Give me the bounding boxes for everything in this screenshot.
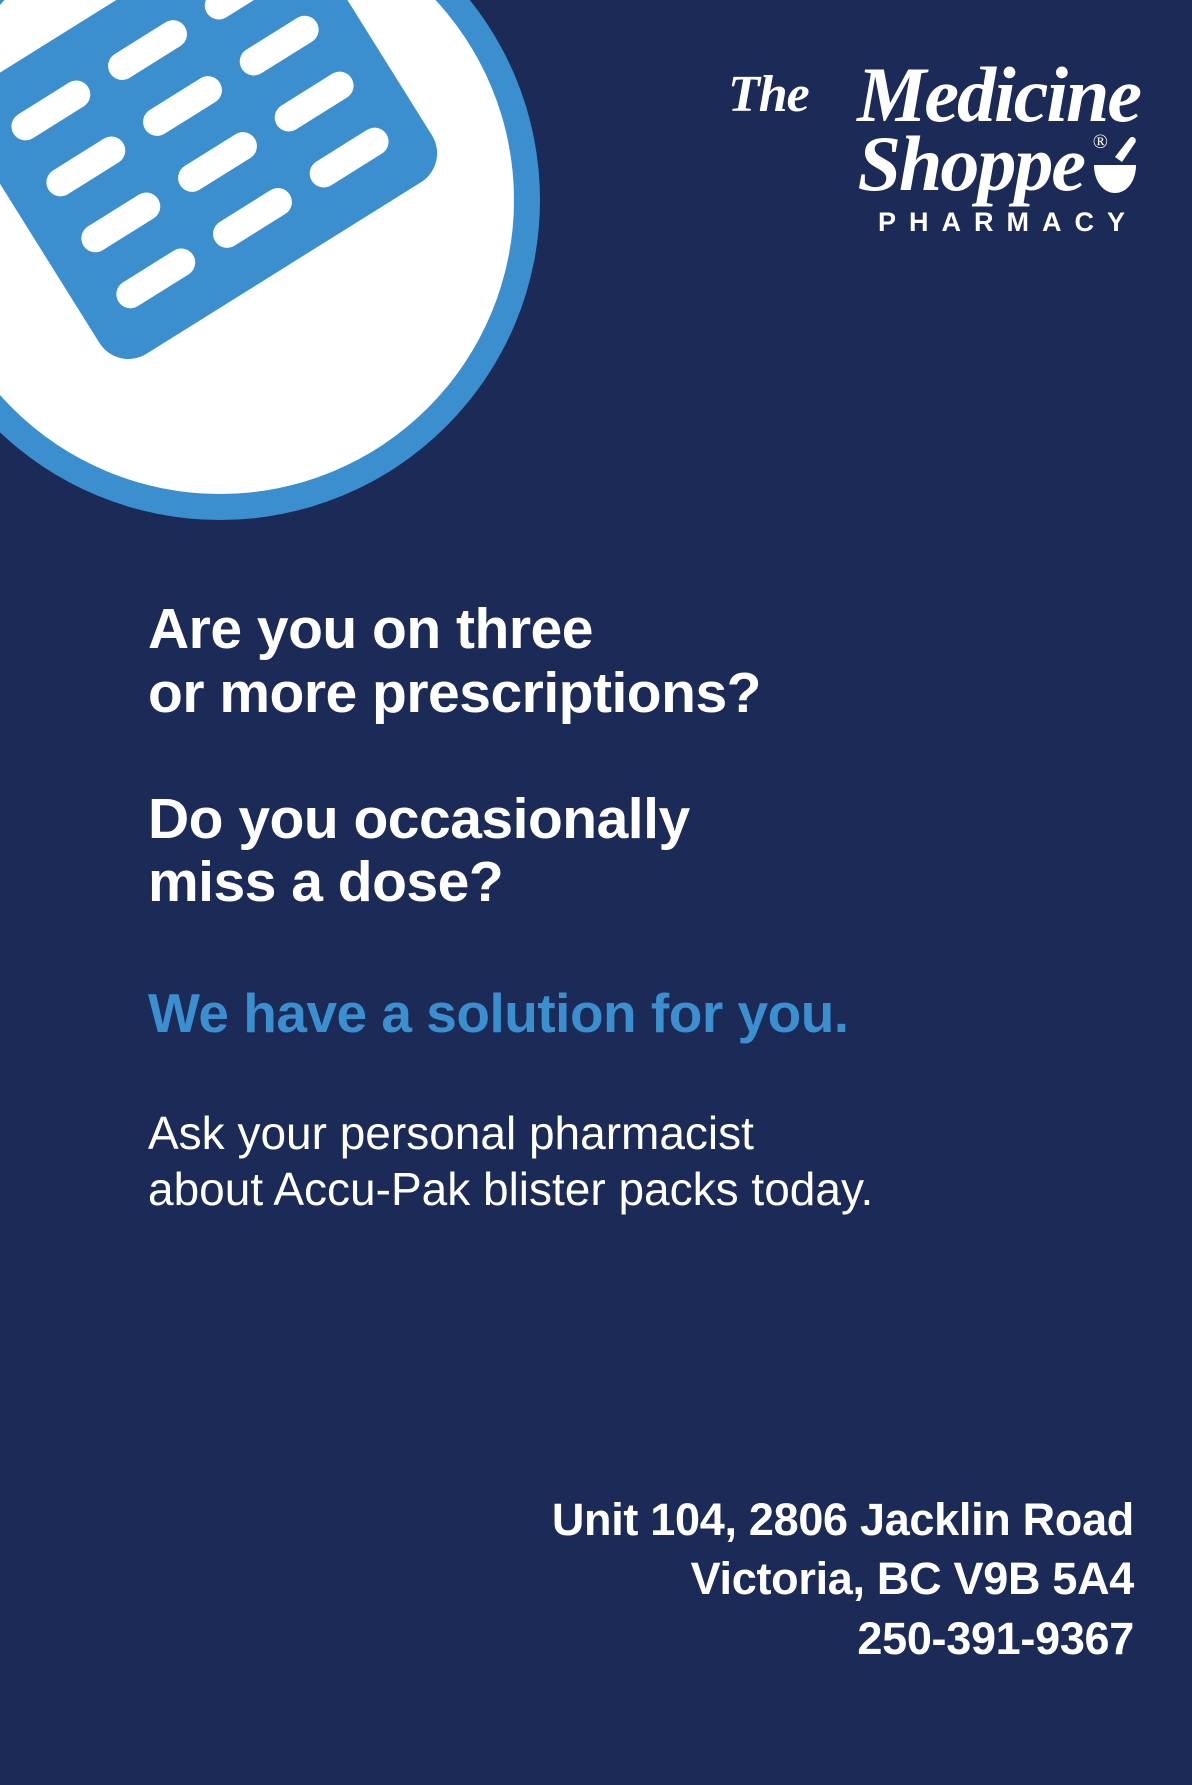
pill-capsule: [103, 15, 192, 85]
logo-wordmark: The Medicine Shoppe ®: [720, 72, 1140, 199]
headline-two-line-one: Do you occasionally: [148, 788, 1048, 852]
poster-content: Are you on three or more prescriptions? …: [148, 598, 1048, 1218]
phone-number[interactable]: 250-391-9367: [552, 1609, 1134, 1668]
address-line-two: Victoria, BC V9B 5A4: [552, 1549, 1134, 1608]
brand-logo: The Medicine Shoppe ® PHARMACY: [720, 72, 1140, 238]
mortar-and-pestle-icon: [1086, 135, 1144, 197]
pill-capsule: [208, 183, 297, 253]
pill-capsule: [173, 127, 262, 197]
solution-statement: We have a solution for you.: [148, 981, 1048, 1045]
pill-capsule: [269, 66, 358, 136]
pill-capsule: [234, 10, 323, 80]
pill-capsule: [199, 0, 288, 25]
blister-pack-icon: [0, 0, 540, 520]
headline-one-line-two: or more prescriptions?: [148, 662, 1048, 726]
pill-capsule: [304, 122, 393, 192]
headline-question-one: Are you on three or more prescriptions?: [148, 598, 1048, 726]
pill-capsule: [41, 131, 130, 201]
logo-shoppe-text: Shoppe ®: [720, 129, 1140, 199]
pill-capsule: [111, 243, 200, 313]
logo-pharmacy-text: PHARMACY: [720, 207, 1140, 238]
pill-capsule: [138, 71, 227, 141]
call-to-action-text: Ask your personal pharmacist about Accu-…: [148, 1105, 1048, 1217]
headline-question-two: Do you occasionally miss a dose?: [148, 788, 1048, 916]
pill-capsule: [76, 187, 165, 257]
address-line-one: Unit 104, 2806 Jacklin Road: [552, 1490, 1134, 1549]
logo-shoppe-word: Shoppe: [858, 120, 1084, 207]
contact-details: Unit 104, 2806 Jacklin Road Victoria, BC…: [552, 1490, 1134, 1668]
body-line-two: about Accu-Pak blister packs today.: [148, 1161, 1048, 1217]
headline-one-line-one: Are you on three: [148, 598, 1048, 662]
pill-capsule: [6, 75, 95, 145]
headline-two-line-two: miss a dose?: [148, 851, 1048, 915]
body-line-one: Ask your personal pharmacist: [148, 1105, 1048, 1161]
poster-header: The Medicine Shoppe ® PHARMACY: [0, 0, 1192, 520]
